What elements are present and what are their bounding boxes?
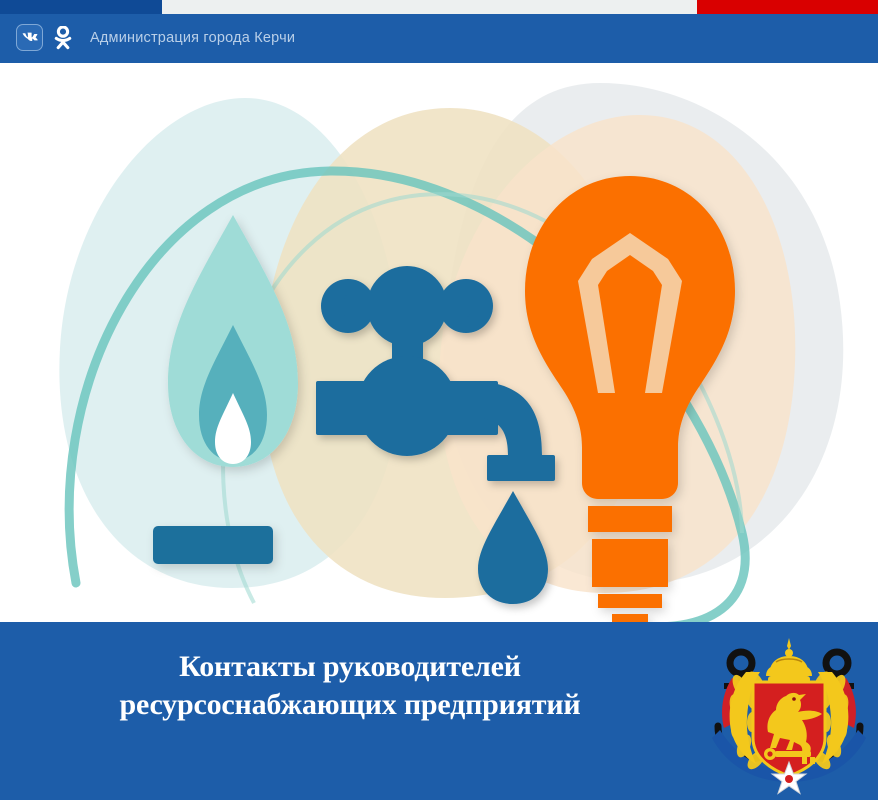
poster-title: Контакты руководителей ресурсоснабжающих…: [0, 648, 700, 725]
vk-icon[interactable]: [16, 24, 43, 51]
bulb-base-ring2: [592, 539, 668, 587]
page-header: Администрация города Керчи: [0, 12, 878, 63]
poster-title-line1: Контакты руководителей: [0, 648, 700, 686]
page-footer: Контакты руководителей ресурсоснабжающих…: [0, 622, 878, 800]
tricolor-white-band: [162, 0, 697, 14]
kerch-coat-of-arms: [706, 634, 872, 796]
russian-tricolor-strip: [0, 0, 878, 14]
burner-base: [153, 526, 273, 564]
header-content: Администрация города Керчи: [0, 24, 295, 51]
faucet-handle-bar: [344, 295, 470, 317]
tricolor-blue-band: [0, 0, 162, 14]
imperial-crown: [766, 638, 812, 683]
poster-root: Администрация города Керчи: [0, 0, 878, 800]
bulb-base-ring1: [588, 506, 672, 532]
poster-title-line2: ресурсоснабжающих предприятий: [0, 686, 700, 724]
header-title: Администрация города Керчи: [90, 30, 295, 46]
bulb-base-ring3: [598, 594, 662, 608]
faucet-spout-tip: [487, 455, 555, 481]
ok-icon[interactable]: [52, 25, 74, 50]
tricolor-red-band: [697, 0, 878, 14]
utilities-illustration: [0, 63, 878, 622]
bulb-base-ring4: [612, 614, 648, 622]
